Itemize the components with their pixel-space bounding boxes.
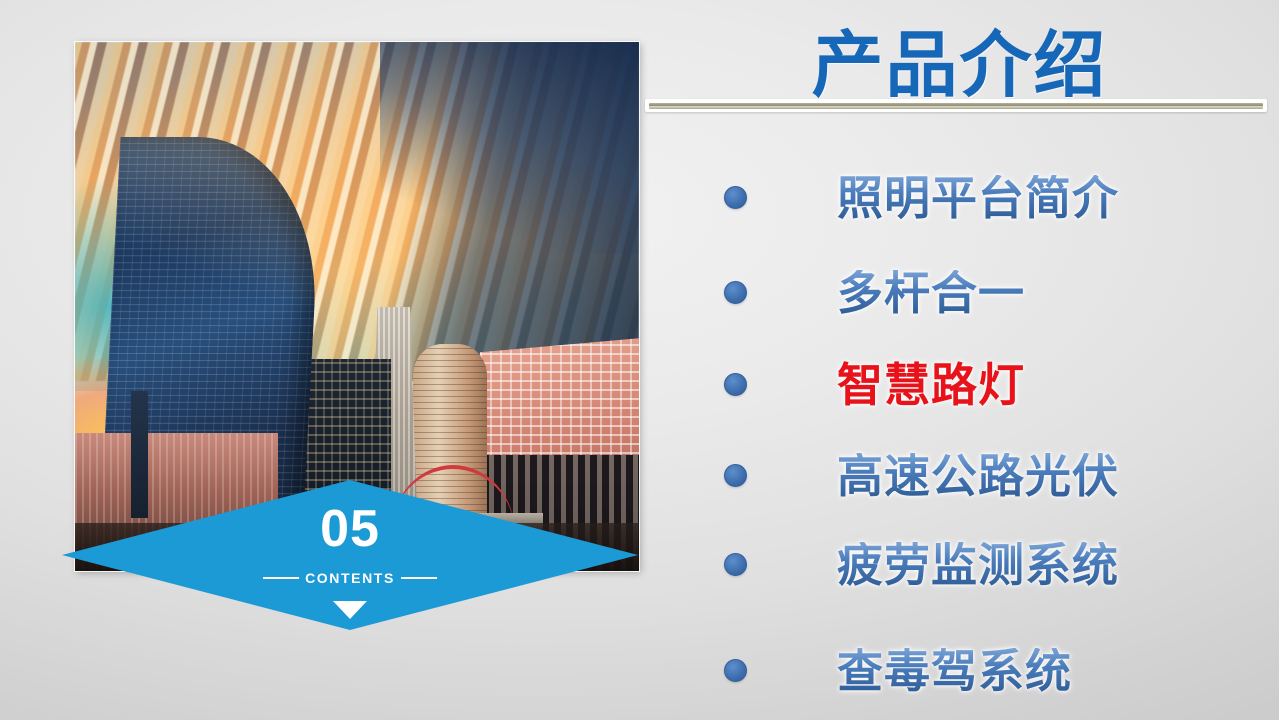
bullet-dot-icon (724, 659, 747, 682)
title-divider (645, 99, 1267, 112)
title-divider-bevel (649, 103, 1263, 109)
building-spire (131, 391, 148, 518)
bullet-dot-icon (724, 464, 747, 487)
bullet-dot-icon (724, 373, 747, 396)
contents-number: 05 (320, 503, 380, 555)
page-title: 产品介绍 (640, 6, 1279, 111)
bullet-dot-icon (724, 553, 747, 576)
contents-rule-left (263, 577, 299, 579)
contents-label-row: CONTENTS (263, 570, 437, 586)
list-item-label: 高速公路光伏 (837, 453, 1119, 499)
contents-rule-right (401, 577, 437, 579)
bullet-dot-icon (724, 186, 747, 209)
contents-label: CONTENTS (305, 570, 395, 586)
list-item-label: 疲劳监测系统 (837, 542, 1119, 588)
list-item-label: 多杆合一 (837, 270, 1025, 316)
list-item-label: 查毒驾系统 (837, 648, 1072, 694)
sky-dark-clouds (380, 42, 639, 254)
chevron-down-icon (333, 601, 367, 619)
list-item-label: 智慧路灯 (837, 362, 1025, 408)
list-item-label: 照明平台简介 (837, 175, 1119, 221)
bullet-dot-icon (724, 281, 747, 304)
